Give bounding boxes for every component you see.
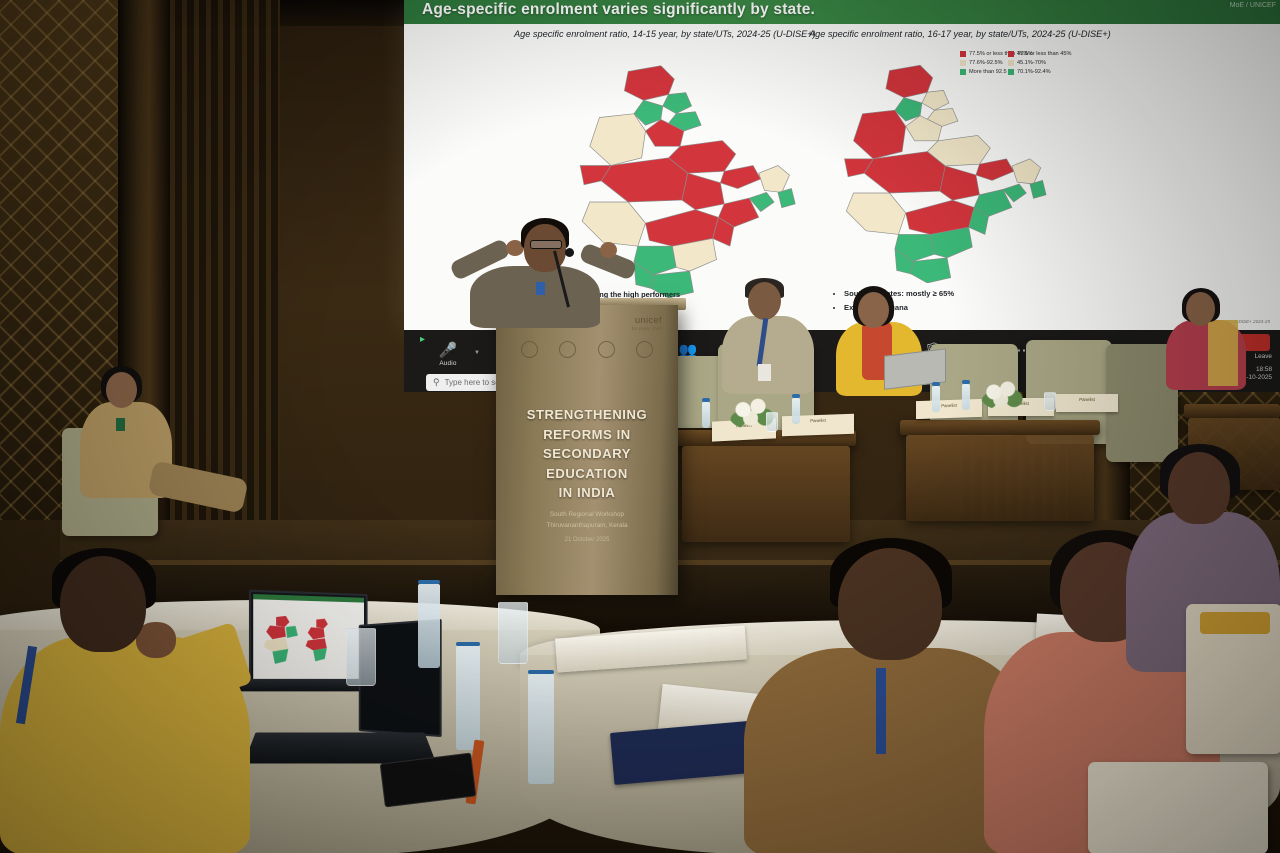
- podium-date: 21 October 2025: [496, 537, 678, 543]
- name-placard: Panelist: [1056, 394, 1118, 412]
- bottle-cap: [962, 380, 970, 384]
- podium-title-line: EDUCATION: [496, 464, 678, 484]
- legend-label: 45% or less than 45%: [1017, 50, 1071, 58]
- panelist-head: [748, 282, 781, 320]
- name-badge: [116, 418, 125, 431]
- slide-title: Age-specific enrolment varies significan…: [422, 1, 815, 19]
- laptop-slide-title-bar: [253, 594, 364, 603]
- partner-logo-icon: [636, 341, 653, 358]
- audio-label: Audio: [426, 360, 470, 367]
- bottle-cap: [792, 394, 800, 398]
- bottle-cap: [702, 398, 710, 402]
- audience-head: [1168, 452, 1230, 524]
- eyeglasses-icon: [530, 240, 562, 249]
- podium: ⚜GOVERNMENT OF INDIA unicef for every ch…: [496, 305, 678, 595]
- attendee-head: [106, 372, 137, 408]
- right-map-panel: Age specific enrolment ratio, 16-17 year…: [809, 28, 1139, 40]
- name-placard: Panelist: [916, 399, 982, 419]
- screen-share-icon: ▸: [420, 334, 425, 345]
- search-icon: ⚲: [433, 377, 440, 388]
- podium-title-line: IN INDIA: [496, 483, 678, 503]
- bottle-cap: [418, 580, 440, 584]
- leave-label: Leave: [1255, 353, 1272, 360]
- partner-logo-row: [510, 341, 664, 358]
- audience-head: [60, 556, 146, 652]
- unicef-tagline: for every child: [632, 326, 662, 331]
- water-bottle: [792, 398, 800, 424]
- drinking-glass: [498, 602, 528, 664]
- slide-brand-corner: MoE / UNICEF: [1230, 2, 1276, 9]
- right-map-title: Age specific enrolment ratio, 16-17 year…: [809, 28, 1139, 40]
- flower-arrangement: [980, 380, 1026, 410]
- podium-subtitle: South Regional Workshop Thiruvananthapur…: [496, 510, 678, 532]
- water-bottle: [418, 584, 440, 668]
- banquet-chair: [1088, 762, 1268, 853]
- panel-table-body: [906, 435, 1094, 521]
- unicef-wordmark: unicef: [632, 315, 662, 326]
- podium-subtitle-line: South Regional Workshop: [496, 510, 678, 521]
- drinking-glass: [346, 628, 376, 686]
- partner-logo-icon: [598, 341, 615, 358]
- bottle-cap: [528, 670, 554, 674]
- water-bottle: [528, 674, 554, 784]
- audience-head: [838, 548, 942, 660]
- legend-swatch-red: [960, 51, 966, 57]
- saree-drape: [1208, 320, 1238, 386]
- panelist-torso: [722, 316, 814, 394]
- partner-logo-icon: [559, 341, 576, 358]
- audio-button[interactable]: 🎤 Audio: [426, 342, 470, 367]
- panel-table-body: [682, 446, 850, 542]
- bottle-cap: [456, 642, 480, 646]
- chair-sash: [1200, 612, 1270, 634]
- speaker-hand-right: [600, 242, 617, 258]
- speaker-torso: [470, 266, 600, 328]
- podium-title-line: STRENGTHENING: [496, 405, 678, 425]
- panelist-head: [858, 292, 889, 328]
- india-map-16-17: [824, 58, 1054, 283]
- left-map-panel: Age specific enrolment ratio, 14-15 year…: [514, 28, 844, 40]
- podium-title-line: SECONDARY: [496, 444, 678, 464]
- microphone-icon: 🎤: [426, 342, 470, 359]
- water-bottle: [932, 386, 940, 412]
- conference-hall-photo: Age-specific enrolment varies significan…: [0, 0, 1280, 853]
- panelist-head: [1186, 292, 1215, 326]
- podium-title-line: REFORMS IN: [496, 425, 678, 445]
- water-bottle: [962, 384, 970, 410]
- right-map-bullets: Southern states: mostly ≥ 65% Except Tel…: [834, 288, 954, 316]
- water-bottle: [456, 646, 480, 750]
- unicef-logo: unicef for every child: [632, 315, 662, 331]
- legend-row: 45% or less than 45%: [1008, 50, 1071, 58]
- microphone-head: [565, 248, 574, 257]
- laptop-base: [244, 733, 437, 764]
- panel-table: [900, 420, 1100, 435]
- bottle-cap: [932, 382, 940, 386]
- drinking-glass: [1044, 392, 1056, 411]
- legend-swatch-red: [1008, 51, 1014, 57]
- audio-chevron-down-icon[interactable]: ▼: [474, 350, 480, 356]
- drinking-glass: [766, 412, 778, 432]
- podium-subtitle-line: Thiruvananthapuram, Kerala: [496, 521, 678, 532]
- lanyard: [876, 668, 886, 754]
- water-bottle: [702, 402, 710, 428]
- speaker-name-badge: [536, 282, 545, 295]
- left-map-title: Age specific enrolment ratio, 14-15 year…: [514, 28, 844, 40]
- podium-title: STRENGTHENING REFORMS IN SECONDARY EDUCA…: [496, 405, 678, 503]
- slide-title-bar: Age-specific enrolment varies significan…: [404, 0, 1280, 24]
- panel-table: [1184, 404, 1280, 418]
- name-badge: [758, 364, 771, 381]
- partner-logo-icon: [521, 341, 538, 358]
